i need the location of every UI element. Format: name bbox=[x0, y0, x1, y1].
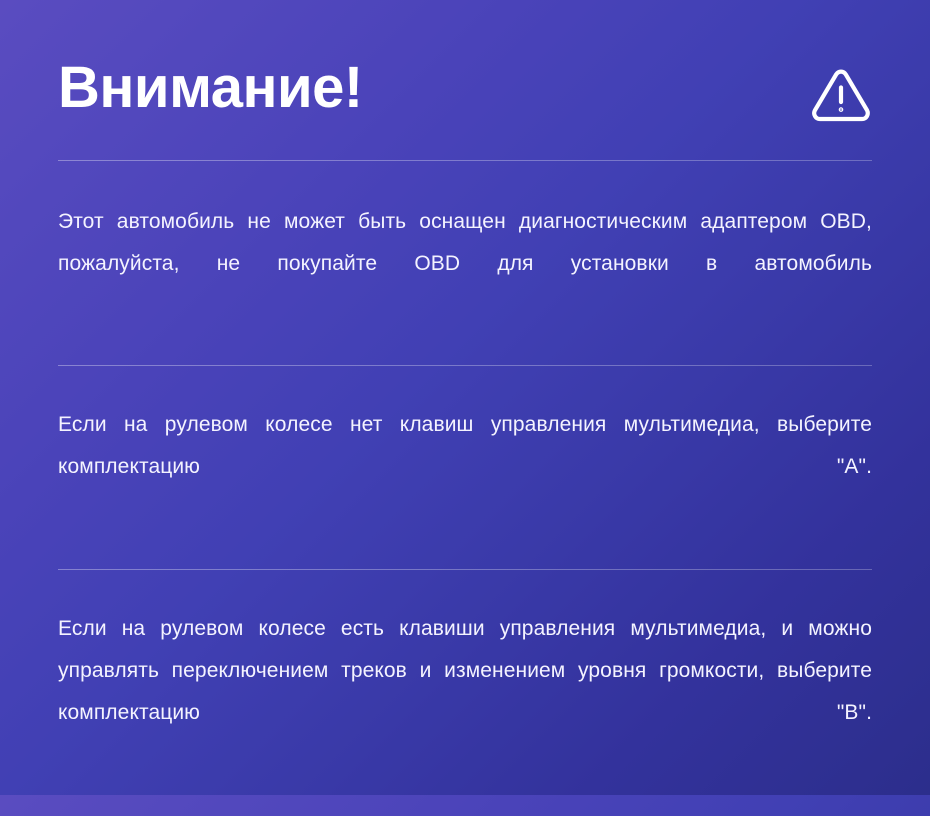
warning-notice-card: Внимание! Этот автомобиль не может быть … bbox=[58, 0, 872, 795]
notice-header: Внимание! bbox=[58, 0, 872, 160]
notice-text-obd: Этот автомобиль не может быть оснащен ди… bbox=[58, 161, 872, 365]
warning-triangle-icon bbox=[810, 66, 872, 124]
page-title: Внимание! bbox=[58, 55, 363, 121]
notice-text-variant-a: Если на рулевом колесе нет клавиш управл… bbox=[58, 366, 872, 569]
notice-text-variant-b: Если на рулевом колесе есть клавиши упра… bbox=[58, 570, 872, 816]
